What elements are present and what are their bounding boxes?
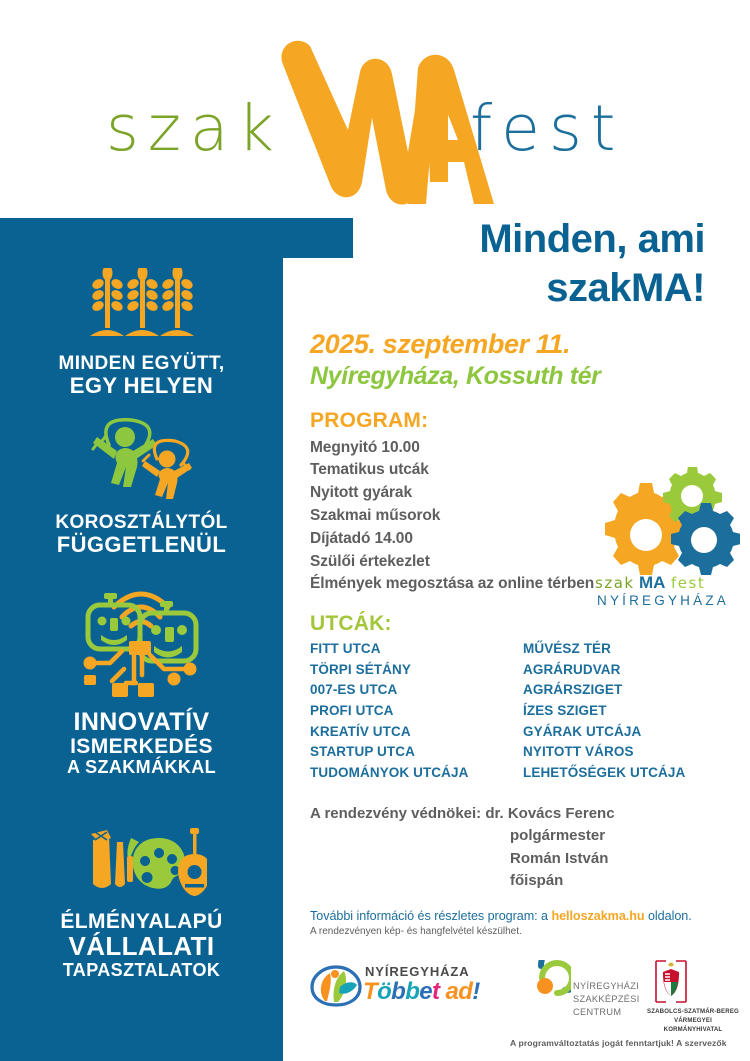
gear-logo-fest: fest: [671, 574, 705, 592]
nyiregyhaza-logo-slogan: Többet ad!: [363, 978, 480, 1006]
footer-disclaimer: A programváltoztatás jogát fenntartjuk! …: [510, 1038, 727, 1048]
wheat-icon: [82, 268, 202, 346]
utca-item: GYÁRAK UTCÁJA: [523, 722, 685, 743]
headline-line-1: Minden, ami: [310, 215, 705, 264]
sidebar-feature-minden-egyutt: MINDEN EGYÜTT, EGY HELYEN: [0, 268, 283, 397]
info-suffix: oldalon.: [645, 909, 692, 923]
info-prefix: További információ és részletes program:…: [310, 909, 551, 923]
utca-item: NYITOTT VÁROS: [523, 742, 685, 763]
blue-top-band: [0, 218, 353, 258]
sidebar-feature-elmenyalapu: ÉLMÉNYALAPÚ VÁLLALATI TAPASZTALATOK: [0, 828, 283, 980]
slogan-char: e: [419, 978, 432, 1005]
utca-item: FITT UTCA: [310, 639, 523, 660]
utca-item: MŰVÉSZ TÉR: [523, 639, 685, 660]
utca-item: TÖRPI SÉTÁNY: [310, 660, 523, 681]
slogan-char: d: [458, 978, 472, 1005]
utca-item: STARTUP UTCA: [310, 742, 523, 763]
footer-logos: NYÍREGYHÁZA Többet ad! NYÍREGYHÁZI SZAKK…: [305, 958, 750, 1061]
page-title: Minden, ami szakMA!: [310, 215, 740, 313]
utca-item: AGRÁRUDVAR: [523, 660, 685, 681]
feature-line: INNOVATÍV: [0, 709, 283, 736]
slogan-char: ö: [377, 978, 391, 1005]
utca-item: ÍZES SZIGET: [523, 701, 685, 722]
szc-line: SZAKKÉPZÉSI: [573, 993, 640, 1006]
gear-logo-szak: szak: [595, 574, 635, 592]
sidebar-feature-korosztaly: KOROSZTÁLYTÓL FÜGGETLENÜL: [0, 415, 283, 556]
feature-line: FÜGGETLENÜL: [0, 533, 283, 556]
utca-item: PROFI UTCA: [310, 701, 523, 722]
event-date: 2025. szeptember 11.: [310, 329, 740, 360]
gear-logo-ma: MA: [639, 573, 665, 592]
utcak-heading: UTCÁK:: [310, 612, 740, 636]
szc-line: NYÍREGYHÁZI: [573, 980, 640, 993]
logo-ma-brushmark: [268, 32, 498, 207]
slogan-char: !: [472, 978, 479, 1005]
feature-line: ISMERKEDÉS: [0, 736, 283, 758]
patrons-label: A rendezvény védnökei: dr. Kovács Ferenc: [310, 803, 740, 826]
slogan-char: T: [363, 978, 377, 1005]
szakkepzesi-centrum-logo-icon: [515, 960, 571, 1010]
headline-line-2: szakMA!: [310, 264, 705, 313]
slogan-char: b: [391, 978, 405, 1005]
nyiregyhaza-logo-top: NYÍREGYHÁZA: [365, 964, 470, 979]
brand-logo: szak fest: [0, 14, 750, 204]
slogan-char: b: [405, 978, 419, 1005]
main-content: Minden, ami szakMA! 2025. szeptember 11.…: [310, 215, 740, 937]
slogan-char: a: [445, 978, 458, 1005]
logo-fest-text: fest: [470, 92, 624, 165]
program-item: Megnyitó 10.00: [310, 437, 610, 460]
utca-item: TUDOMÁNYOK UTCÁJA: [310, 763, 523, 784]
utcak-grid: FITT UTCA TÖRPI SÉTÁNY 007-ES UTCA PROFI…: [310, 639, 730, 783]
szakmafest-gear-logo: szak MA fest NYÍREGYHÁZA: [565, 467, 740, 612]
utca-item: LEHETŐSÉGEK UTCÁJA: [523, 763, 685, 784]
website-link[interactable]: helloszakma.hu: [551, 909, 644, 923]
kormanyhivatal-label: SZABOLCS-SZATMÁR-BEREG VÁRMEGYEI KORMÁNY…: [633, 1008, 750, 1034]
kh-line: VÁRMEGYEI: [633, 1017, 750, 1026]
feature-line: EGY HELYEN: [0, 374, 283, 397]
utca-item: 007-ES UTCA: [310, 680, 523, 701]
info-line: További információ és részletes program:…: [310, 909, 740, 923]
utcak-column-1: FITT UTCA TÖRPI SÉTÁNY 007-ES UTCA PROFI…: [310, 639, 523, 783]
nyiregyhaza-logo-icon: [310, 963, 362, 1007]
patron-2-name: Román István: [310, 848, 740, 871]
feature-line: MINDEN EGYÜTT,: [0, 354, 283, 374]
patrons-block: A rendezvény védnökei: dr. Kovács Ferenc…: [310, 803, 740, 893]
szakkepzesi-centrum-label: NYÍREGYHÁZI SZAKKÉPZÉSI CENTRUM: [573, 980, 640, 1019]
kh-line: KORMÁNYHIVATAL: [633, 1026, 750, 1035]
feature-line: KOROSZTÁLYTÓL: [0, 513, 283, 533]
patron-1-title: polgármester: [310, 825, 740, 848]
feature-line: VÁLLALATI: [0, 933, 283, 961]
event-place: Nyíregyháza, Kossuth tér: [310, 362, 740, 391]
sidebar-feature-innovativ: INNOVATÍV ISMERKEDÉS A SZAKMÁKKAL: [0, 583, 283, 777]
feature-line: TAPASZTALATOK: [0, 961, 283, 980]
feature-line: ÉLMÉNYALAPÚ: [0, 911, 283, 933]
utcak-column-2: MŰVÉSZ TÉR AGRÁRUDVAR AGRÁRSZIGET ÍZES S…: [523, 639, 685, 783]
patron-2-title: főispán: [310, 870, 740, 893]
szc-line: CENTRUM: [573, 1006, 640, 1019]
jumping-children-icon: [79, 415, 204, 505]
program-heading: PROGRAM:: [310, 409, 740, 433]
arts-palette-guitar-icon: [77, 828, 207, 903]
kh-line: SZABOLCS-SZATMÁR-BEREG: [633, 1008, 750, 1017]
utca-item: KREATÍV UTCA: [310, 722, 523, 743]
gear-logo-city: NYÍREGYHÁZA: [597, 593, 729, 608]
robots-circuit-icon: [74, 583, 209, 701]
kormanyhivatal-coat-of-arms-icon: [650, 958, 692, 1008]
recording-note: A rendezvényen kép- és hangfelvétel kész…: [310, 926, 740, 937]
feature-line: A SZAKMÁKKAL: [0, 758, 283, 777]
utca-item: AGRÁRSZIGET: [523, 680, 685, 701]
logo-szak-text: szak: [106, 92, 283, 165]
